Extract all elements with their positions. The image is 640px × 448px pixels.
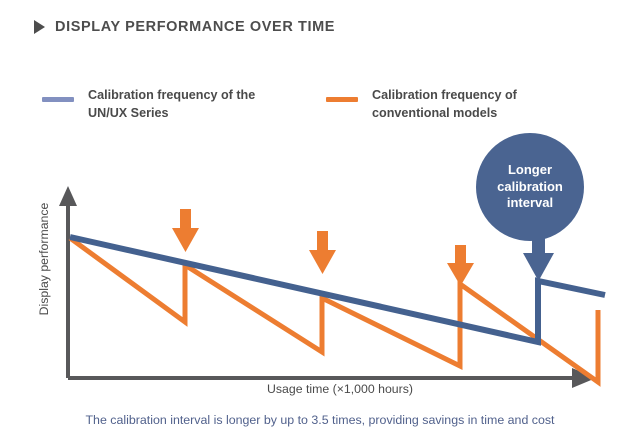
triangle-right-icon <box>34 20 45 34</box>
legend-item-conventional: Calibration frequency of conventional mo… <box>326 86 552 123</box>
legend-item-unux: Calibration frequency of the UN/UX Serie… <box>42 86 268 123</box>
y-axis-label: Display performance <box>37 179 51 339</box>
footer-caption: The calibration interval is longer by up… <box>60 412 580 429</box>
calibration-arrow-1 <box>172 209 199 252</box>
callout-bubble: Longer calibration interval <box>476 133 584 241</box>
callout-arrow-icon <box>523 234 554 281</box>
calibration-arrow-2 <box>309 231 336 274</box>
calibration-arrow-3 <box>447 245 474 286</box>
x-axis-label: Usage time (×1,000 hours) <box>200 382 480 396</box>
y-axis <box>59 186 77 378</box>
page-title-text: DISPLAY PERFORMANCE OVER TIME <box>55 19 335 35</box>
line-swatch-icon <box>42 97 74 102</box>
series-line-conventional <box>70 238 598 382</box>
series-line-unux <box>70 237 605 342</box>
callout-text: Longer calibration interval <box>476 162 584 212</box>
page-title: DISPLAY PERFORMANCE OVER TIME <box>34 19 335 35</box>
chart-legend: Calibration frequency of the UN/UX Serie… <box>42 86 552 123</box>
legend-item-label: Calibration frequency of conventional mo… <box>372 86 552 123</box>
legend-item-label: Calibration frequency of the UN/UX Serie… <box>88 86 268 123</box>
line-swatch-icon <box>326 97 358 102</box>
